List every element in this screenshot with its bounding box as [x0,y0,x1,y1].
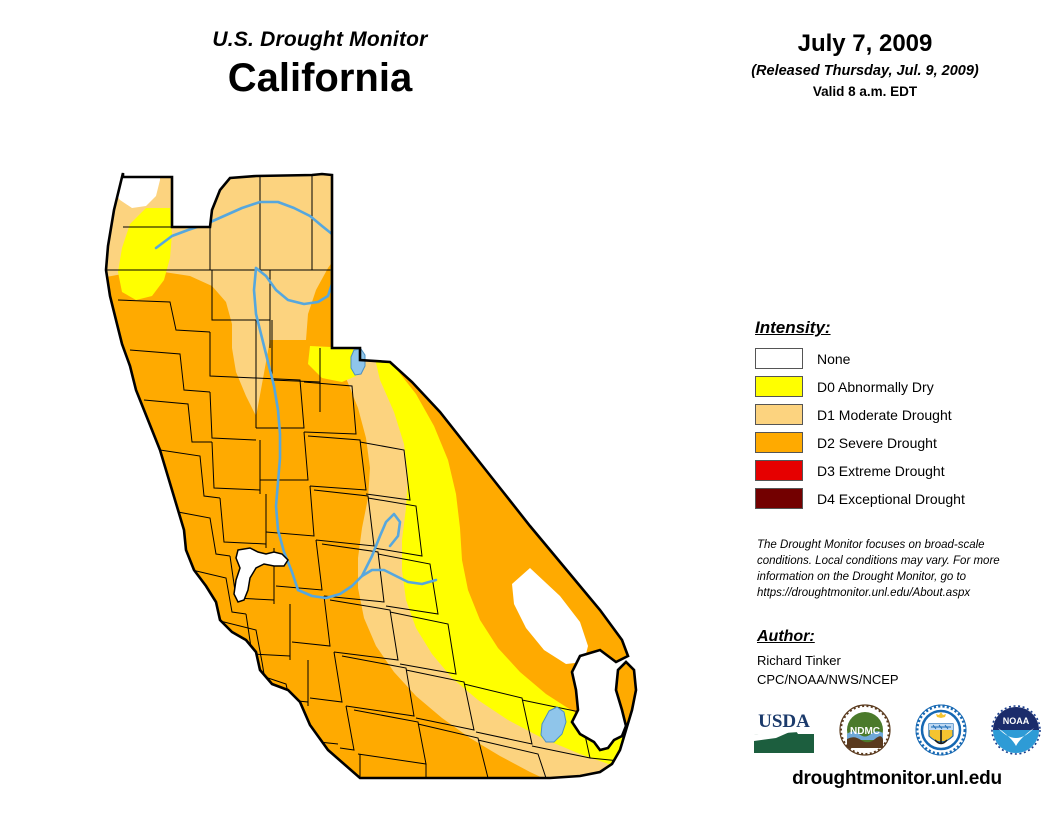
map-valid-time: Valid 8 a.m. EDT [690,84,1040,101]
usda-logo: USDA [752,705,816,755]
legend-swatch-d4 [755,488,803,509]
california-map-svg [60,150,700,800]
svg-text:NOAA: NOAA [1003,716,1030,726]
usda-seal-logo [915,704,967,756]
map-date: July 7, 2009 [690,30,1040,58]
legend-swatch-none [755,348,803,369]
legend-item-none: None [755,346,1035,371]
author-name: Richard Tinker [757,652,1027,670]
page-title-program: U.S. Drought Monitor [0,28,640,51]
svg-text:NDMC: NDMC [850,726,880,737]
page-title-region: California [0,55,640,101]
drought-monitor-page: U.S. Drought Monitor California July 7, … [0,0,1056,816]
legend-item-d0: D0 Abnormally Dry [755,374,1035,399]
legend-title: Intensity: [755,318,1035,338]
author-block: Author: Richard Tinker CPC/NOAA/NWS/NCEP [757,628,1027,688]
legend-item-d3: D3 Extreme Drought [755,458,1035,483]
legend-label-none: None [817,351,850,367]
legend-item-d2: D2 Severe Drought [755,430,1035,455]
legend-swatch-d2 [755,432,803,453]
legend-label-d0: D0 Abnormally Dry [817,379,934,395]
legend-label-d1: D1 Moderate Drought [817,407,952,423]
author-heading: Author: [757,628,1027,646]
legend-swatch-d0 [755,376,803,397]
legend-swatch-d3 [755,460,803,481]
author-affiliation: CPC/NOAA/NWS/NCEP [757,671,1027,689]
legend-swatch-d1 [755,404,803,425]
website-url: droughtmonitor.unl.edu [752,768,1042,790]
lake-tahoe [351,349,365,375]
legend-item-d4: D4 Exceptional Drought [755,486,1035,511]
svg-text:USDA: USDA [758,711,810,732]
map-release-date: (Released Thursday, Jul. 9, 2009) [690,62,1040,80]
legend-item-d1: D1 Moderate Drought [755,402,1035,427]
legend-label-d2: D2 Severe Drought [817,435,937,451]
ndmc-logo: NDMC [839,704,891,756]
noaa-logo: NOAA [990,704,1042,756]
legend: Intensity: None D0 Abnormally Dry D1 Mod… [755,318,1035,514]
agency-logos: USDA NDMC [752,700,1042,760]
map-date-block: July 7, 2009 (Released Thursday, Jul. 9,… [690,30,1040,101]
legend-label-d4: D4 Exceptional Drought [817,491,965,507]
disclaimer-text: The Drought Monitor focuses on broad-sca… [757,538,1027,601]
legend-label-d3: D3 Extreme Drought [817,463,945,479]
california-drought-map [60,150,700,800]
map-title-block: U.S. Drought Monitor California [0,28,640,101]
